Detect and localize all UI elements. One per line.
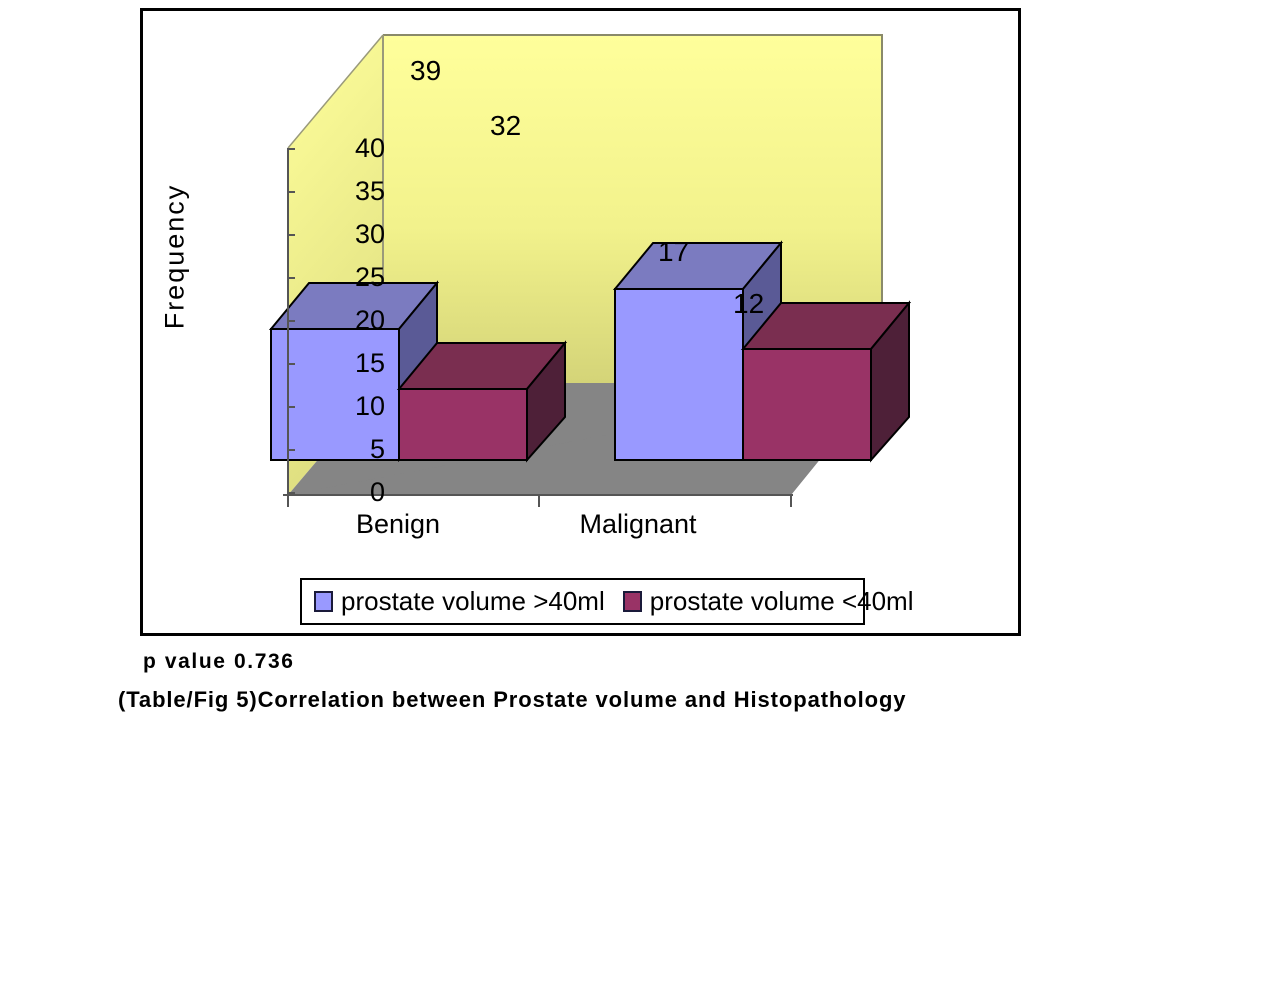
legend-label-series2: prostate volume <40ml — [650, 586, 914, 617]
data-label-malignant-s2: 12 — [733, 288, 764, 320]
x-label-benign: Benign — [323, 509, 473, 540]
chart-legend: prostate volume >40ml prostate volume <4… — [300, 578, 865, 625]
y-tickmark-5 — [288, 449, 295, 451]
legend-label-series1: prostate volume >40ml — [341, 586, 605, 617]
y-tickmark-25 — [288, 277, 295, 279]
y-tickmark-40 — [288, 148, 295, 150]
legend-swatch-icon-series1 — [314, 591, 333, 612]
y-tickmark-0 — [288, 492, 295, 494]
y-tickmark-35 — [288, 191, 295, 193]
data-label-malignant-s1: 17 — [658, 236, 689, 268]
y-axis-title: Frequency — [160, 167, 191, 347]
bar-malignant-s2-front[interactable] — [743, 349, 871, 460]
chart-frame: Frequency 40 35 30 25 20 15 10 5 0 — [140, 8, 1021, 636]
data-label-benign-s2: 32 — [490, 110, 521, 142]
y-tickmark-10 — [288, 406, 295, 408]
legend-item-volume-over-40[interactable]: prostate volume >40ml — [314, 586, 605, 617]
legend-swatch-icon-series2 — [623, 591, 642, 612]
bar-malignant-s1-front[interactable] — [615, 289, 743, 460]
legend-item-volume-under-40[interactable]: prostate volume <40ml — [623, 586, 914, 617]
y-tickmark-30 — [288, 234, 295, 236]
data-label-benign-s1: 39 — [410, 55, 441, 87]
figure-caption: (Table/Fig 5)Correlation between Prostat… — [118, 687, 906, 713]
chart-3d-canvas — [143, 11, 1018, 571]
y-tickmark-20 — [288, 320, 295, 322]
p-value-text: p value 0.736 — [143, 650, 295, 674]
x-label-malignant: Malignant — [548, 509, 728, 540]
chart-plot-area-3d: Frequency 40 35 30 25 20 15 10 5 0 — [143, 11, 1018, 633]
y-tickmark-15 — [288, 363, 295, 365]
bar-benign-s2-front[interactable] — [399, 389, 527, 460]
